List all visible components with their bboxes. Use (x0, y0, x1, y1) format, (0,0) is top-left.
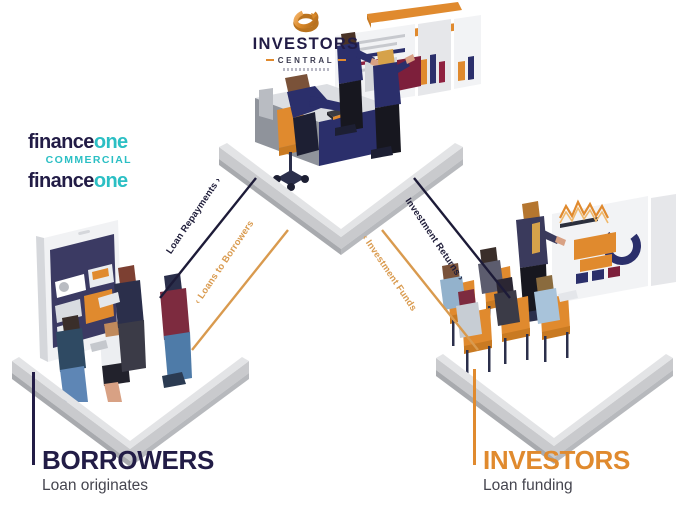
diagram-canvas: Loan Repayments › ‹ Loans to Borrowers I… (0, 0, 680, 513)
borrowers-subtitle: Loan originates (42, 477, 214, 494)
logo-word-dark: finance (28, 131, 94, 153)
logo-financeone-commercial: financeone COMMERCIAL (28, 132, 158, 166)
logo-financeone: financeone (28, 171, 158, 191)
logo-wordmark: financeone (28, 132, 158, 152)
borrowers-accent-bar (32, 372, 35, 465)
brand-name: INVESTORS (251, 36, 361, 53)
logo-word-accent: one (94, 131, 128, 153)
dash-right-icon (338, 59, 346, 61)
investors-label-group: INVESTORS Loan funding (483, 447, 630, 494)
investors-subtitle: Loan funding (483, 477, 630, 494)
brand-logo: INVESTORS CENTRAL (251, 6, 361, 71)
brand-subtitle-row: CENTRAL (251, 56, 361, 65)
brand-subtitle: CENTRAL (278, 56, 334, 65)
brand-tagline-rule (283, 68, 329, 71)
borrowers-label-group: BORROWERS Loan originates (42, 447, 214, 494)
borrowers-title: BORROWERS (42, 447, 214, 473)
logo-descriptor: COMMERCIAL (28, 154, 132, 166)
investors-title: INVESTORS (483, 447, 630, 473)
dash-left-icon (266, 59, 274, 61)
flow-connectors (0, 150, 680, 470)
logo-word-accent: one (94, 170, 128, 192)
investors-accent-bar (473, 369, 476, 465)
logo-wordmark: financeone (28, 171, 158, 191)
logo-word-dark: finance (28, 170, 94, 192)
circular-arrow-ring-icon (291, 6, 321, 34)
